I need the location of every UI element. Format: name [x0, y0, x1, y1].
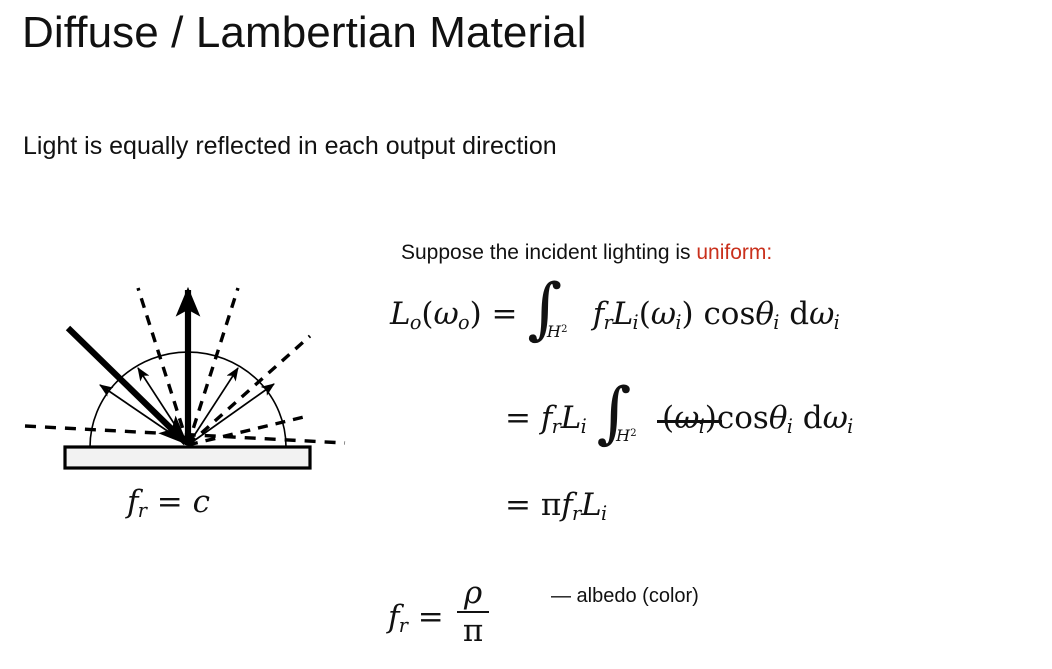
- brdf-f-subscript: r: [138, 499, 147, 522]
- page-title: Diffuse / Lambertian Material: [22, 8, 587, 58]
- eq2-differential-omega-subscript: i: [847, 415, 853, 438]
- albedo-fraction: ρ π: [457, 575, 489, 649]
- eq1-Lo: L: [390, 296, 411, 332]
- brdf-constant: c: [193, 484, 210, 520]
- eq1-f: f: [593, 296, 604, 332]
- eq2-equals: =: [505, 400, 531, 436]
- eq2-L: L: [561, 400, 582, 436]
- equation-rendering-integral: Lo(ωo) = ∫H2 frLi(ωi) cosθi dωi: [390, 296, 840, 334]
- eq1-Lo-subscript: o: [410, 311, 422, 334]
- eq1-L: L: [613, 296, 634, 332]
- eq1-cos: cos: [703, 296, 755, 332]
- eq3-f-subscript: r: [572, 502, 581, 525]
- eq1-f-subscript: r: [604, 311, 613, 334]
- diagram-brdf-label: fr = c: [127, 484, 210, 522]
- eq2-f-subscript: r: [552, 415, 561, 438]
- eq1-paren-close: ): [470, 296, 482, 332]
- eq2-differential-omega: ω: [823, 400, 848, 436]
- slide-subtitle: Light is equally reflected in each outpu…: [23, 132, 557, 161]
- equation-pi-fr-li: = πfrLi: [505, 487, 607, 525]
- eq2-struck-omega-argument: (ωi): [662, 400, 717, 438]
- eq2-cos: cos: [717, 400, 769, 436]
- surface-slab: [65, 447, 310, 468]
- eq1-arg-paren-open: (: [639, 296, 651, 332]
- eq3-equals: =: [505, 487, 531, 523]
- eq2-struck-paren-close: ): [705, 400, 717, 436]
- brdf-equals: =: [157, 484, 183, 520]
- eq2-struck-omega: ω: [674, 400, 699, 436]
- albedo-numerator-rho: ρ: [457, 575, 489, 611]
- eq1-differential-omega-subscript: i: [834, 311, 840, 334]
- suppose-suffix: :: [766, 241, 772, 264]
- suppose-uniform-lighting-text: Suppose the incident lighting is uniform…: [401, 241, 772, 265]
- eq2-integral-domain-exponent: 2: [630, 428, 637, 439]
- eq1-paren-open: (: [421, 296, 433, 332]
- eq3-pi: π: [541, 487, 561, 523]
- eq1-equals: =: [492, 296, 518, 332]
- albedo-denominator-pi: π: [457, 611, 489, 649]
- eq2-f: f: [541, 400, 552, 436]
- eq1-arg-paren-close: ): [681, 296, 693, 332]
- eq1-omega-o-subscript: o: [458, 311, 470, 334]
- eq1-omega-o: ω: [434, 296, 459, 332]
- eq1-differential-d: d: [789, 296, 809, 332]
- albedo-f: f: [388, 599, 399, 635]
- eq2-integral-domain-H: H: [616, 426, 630, 445]
- uniform-highlight: uniform: [696, 241, 766, 264]
- eq1-theta: θ: [755, 296, 774, 332]
- albedo-f-subscript: r: [399, 614, 408, 637]
- eq2-theta-subscript: i: [787, 415, 793, 438]
- eq2-theta: θ: [769, 400, 788, 436]
- eq2-integral-domain: H2: [616, 426, 637, 445]
- eq3-L-subscript: i: [601, 502, 607, 525]
- brdf-f-symbol: f: [127, 484, 138, 520]
- eq1-integral-domain-H: H: [547, 322, 561, 341]
- equation-albedo-over-pi: fr = ρ π: [388, 575, 493, 649]
- eq2-differential-d: d: [803, 400, 823, 436]
- eq2-struck-paren-open: (: [662, 400, 674, 436]
- eq1-omega-i: ω: [651, 296, 676, 332]
- eq1-differential-omega: ω: [809, 296, 834, 332]
- albedo-equals: =: [418, 599, 444, 635]
- eq1-integral-domain: H2: [547, 322, 568, 341]
- eq3-f: f: [561, 487, 572, 523]
- eq1-integral-domain-exponent: 2: [561, 324, 568, 335]
- equation-factored-uniform: = frLi ∫H2 (ωi)cosθi dωi: [505, 400, 853, 438]
- suppose-prefix: Suppose the incident lighting is: [401, 241, 696, 264]
- eq2-L-subscript: i: [581, 415, 587, 438]
- eq1-theta-subscript: i: [773, 311, 779, 334]
- albedo-annotation: — albedo (color): [551, 585, 699, 608]
- eq3-L: L: [581, 487, 602, 523]
